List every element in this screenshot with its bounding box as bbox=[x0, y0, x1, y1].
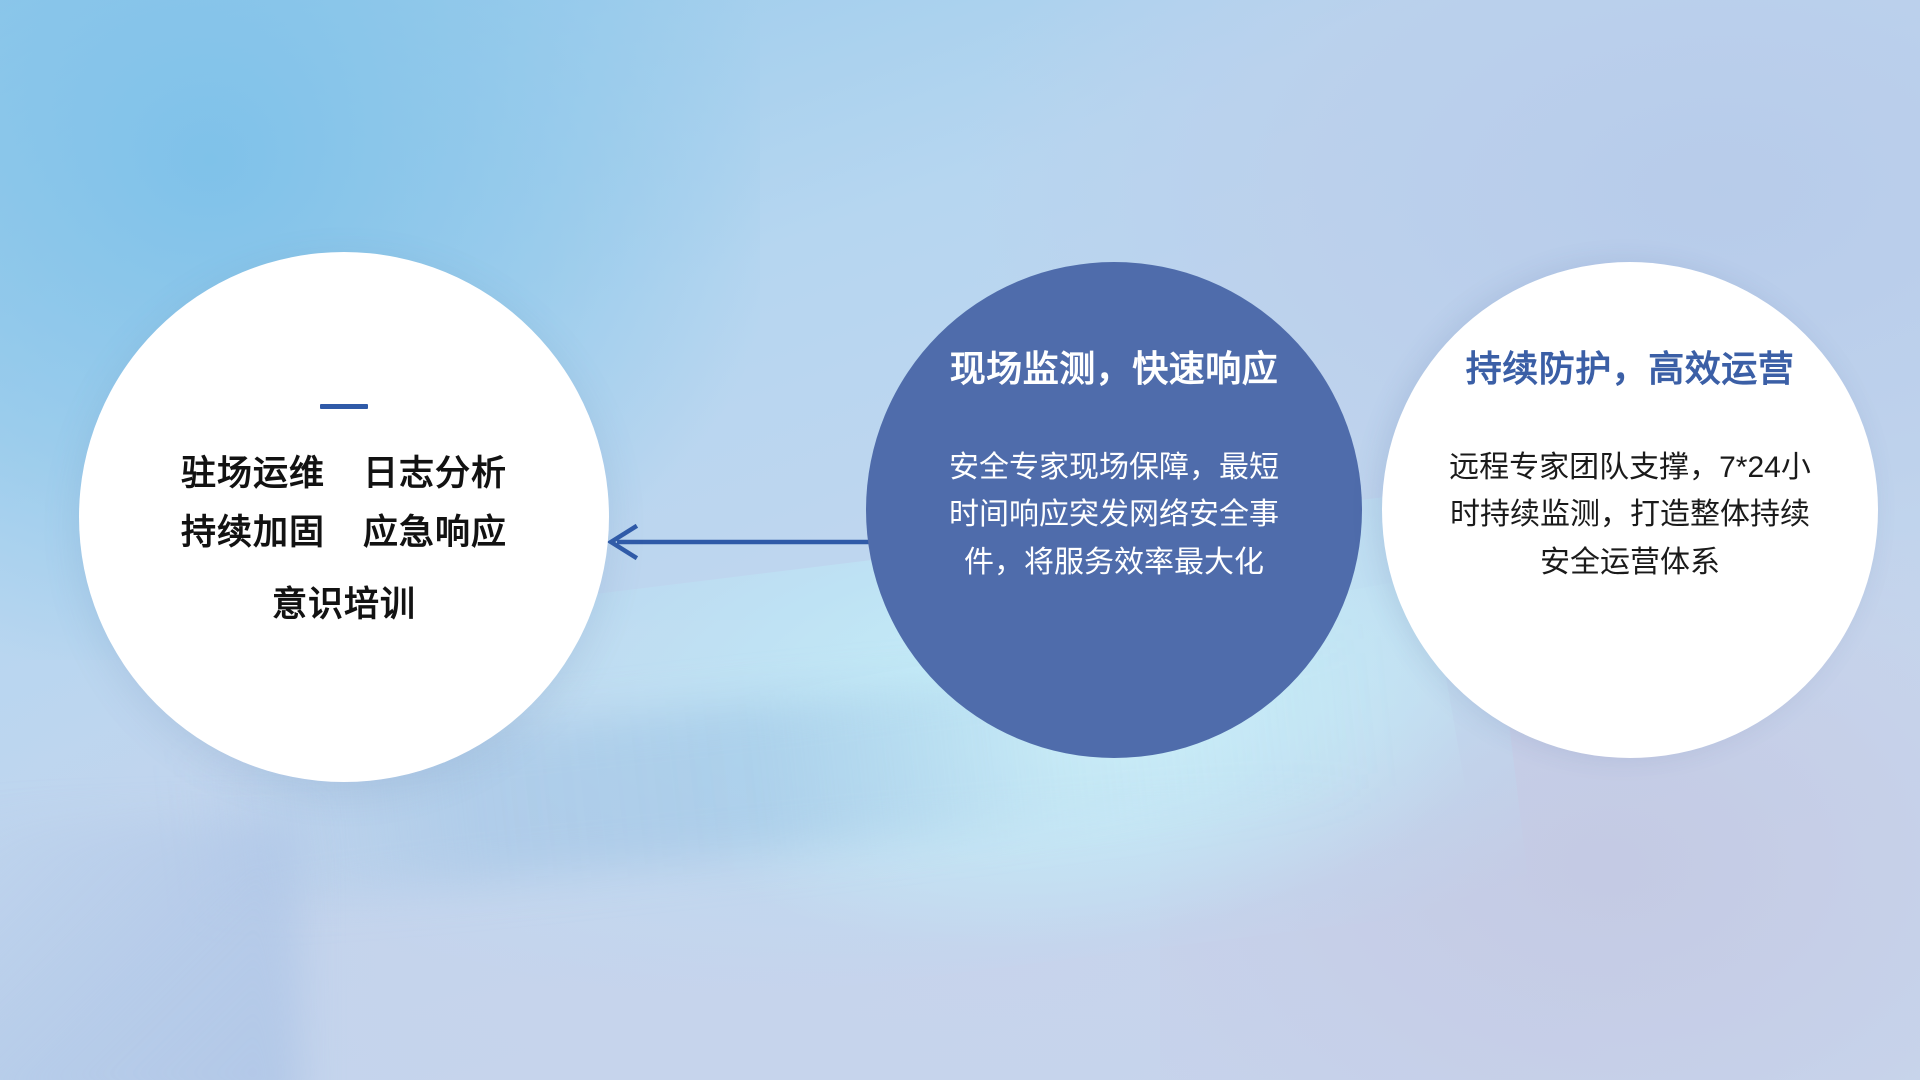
service-circle-onsite[interactable]: 现场监测，快速响应 安全专家现场保障，最短时间响应突发网络安全事件，将服务效率最… bbox=[866, 262, 1362, 758]
capability-row: 驻场运维 日志分析 bbox=[181, 455, 507, 494]
circle-body: 远程专家团队支撑，7*24小时持续监测，打造整体持续安全运营体系 bbox=[1445, 444, 1815, 586]
capability-tag[interactable]: 驻场运维 bbox=[181, 455, 325, 494]
service-circle-continuous[interactable]: 持续防护，高效运营 远程专家团队支撑，7*24小时持续监测，打造整体持续安全运营… bbox=[1382, 262, 1878, 758]
arrow-icon bbox=[595, 515, 885, 570]
capability-circle-left[interactable]: 驻场运维 日志分析 持续加固 应急响应 意识培训 bbox=[79, 252, 609, 782]
circle-title: 现场监测，快速响应 bbox=[950, 340, 1279, 392]
capability-tag[interactable]: 意识培训 bbox=[272, 586, 416, 625]
capability-tag[interactable]: 持续加固 bbox=[181, 514, 325, 553]
circle-body: 安全专家现场保障，最短时间响应突发网络安全事件，将服务效率最大化 bbox=[949, 444, 1279, 586]
capability-tag[interactable]: 日志分析 bbox=[363, 455, 507, 494]
capability-list: 驻场运维 日志分析 持续加固 应急响应 意识培训 bbox=[181, 455, 507, 625]
background-corner-bottom-left bbox=[0, 820, 300, 1080]
capability-row: 持续加固 应急响应 bbox=[181, 514, 507, 553]
slide-canvas: 驻场运维 日志分析 持续加固 应急响应 意识培训 现场监测，快速响应 安全专家现… bbox=[0, 0, 1920, 1080]
circle-title: 持续防护，高效运营 bbox=[1466, 340, 1795, 392]
dash-divider-icon bbox=[320, 404, 368, 409]
capability-row: 意识培训 bbox=[272, 586, 416, 625]
capability-tag[interactable]: 应急响应 bbox=[363, 514, 507, 553]
